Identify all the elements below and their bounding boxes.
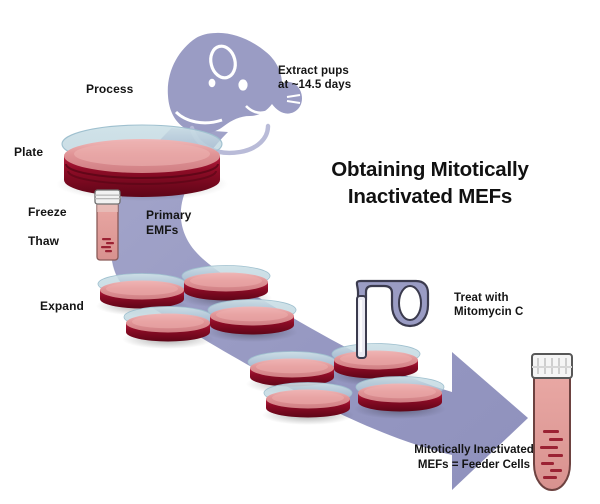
label-plate: Plate: [14, 145, 43, 160]
petri-dish: [354, 377, 446, 420]
page-title: Obtaining Mitotically Inactivated MEFs: [312, 156, 548, 210]
label-freeze-thaw: Freeze Thaw: [28, 205, 67, 249]
label-expand: Expand: [40, 299, 84, 314]
label-extract-pups: Extract pups at ~14.5 days: [278, 64, 351, 92]
petri-dish: [122, 307, 214, 350]
petri-dish-large-icon: [56, 125, 228, 201]
figure-canvas: Process Extract pups at ~14.5 days Plate…: [0, 0, 600, 504]
label-process: Process: [86, 82, 133, 97]
petri-dish: [262, 383, 354, 426]
petri-dish: [206, 300, 298, 343]
cryovial-icon: [95, 190, 120, 260]
label-treat-mitomycin: Treat with Mitomycin C: [454, 291, 523, 319]
label-primary-emfs: Primary EMFs: [146, 208, 191, 237]
label-feeder-cells: Mitotically Inactivated MEFs = Feeder Ce…: [398, 443, 550, 473]
